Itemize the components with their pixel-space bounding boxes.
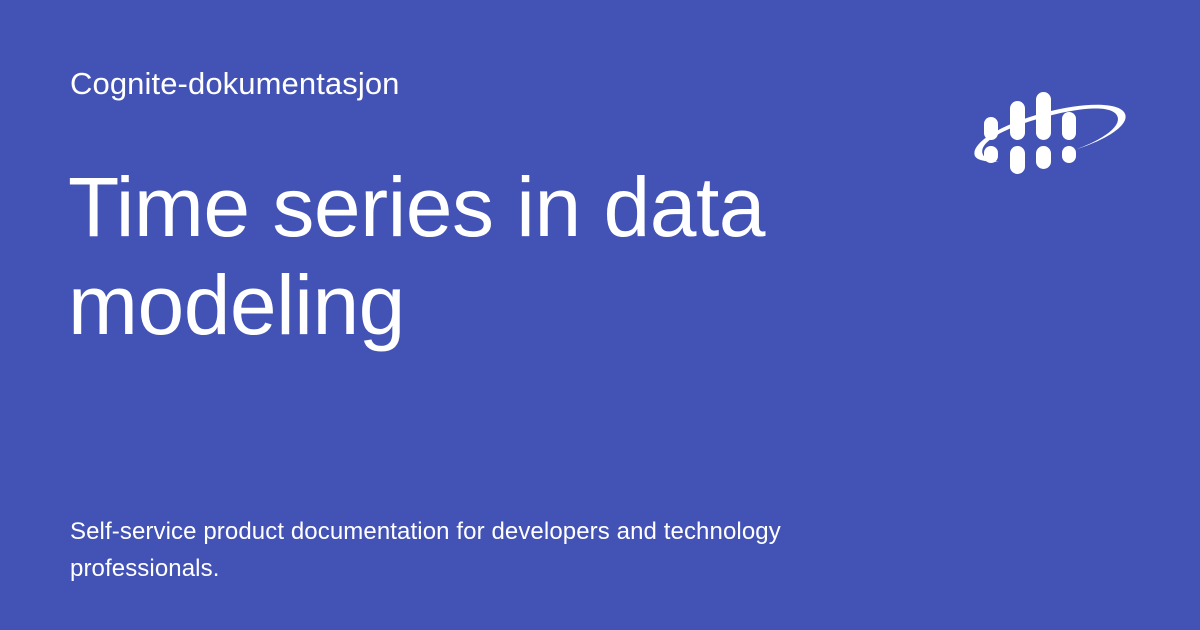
- eyebrow-label: Cognite-dokumentasjon: [70, 64, 400, 104]
- cognite-logo: [968, 90, 1133, 176]
- page-subtitle: Self-service product documentation for d…: [70, 513, 870, 587]
- page-title-line-2: modeling: [68, 256, 948, 354]
- page-title: Time series in data modeling: [68, 158, 948, 354]
- page-title-line-1: Time series in data: [68, 158, 948, 256]
- og-card: Cognite-dokumentasjon Time series in dat…: [0, 0, 1200, 630]
